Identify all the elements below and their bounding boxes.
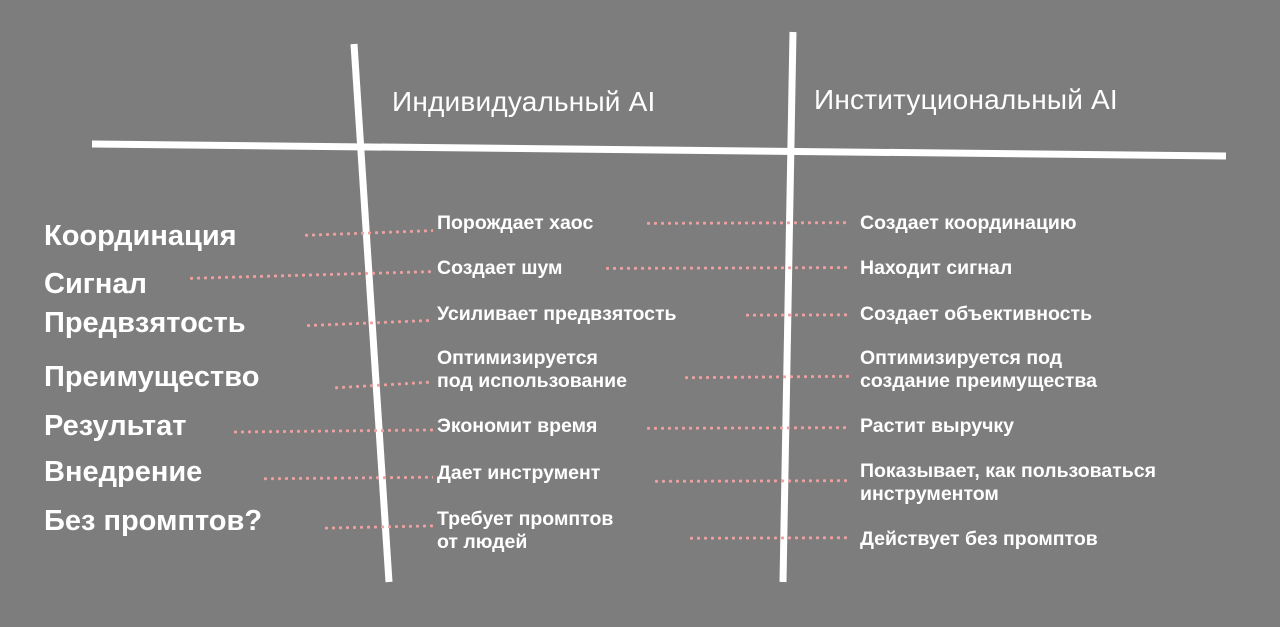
connector-dots-row-1-right — [645, 221, 850, 226]
cell-individual-result: Экономит время — [437, 415, 597, 438]
connector-dots-row-2-right — [604, 266, 850, 271]
cell-institutional-adoption: Показывает, как пользоваться инструменто… — [860, 460, 1156, 506]
vertical-divider-right — [783, 32, 793, 582]
connector-dots-row-7-left — [323, 524, 433, 530]
horizontal-header-rule — [92, 144, 1226, 156]
cell-institutional-bias: Создает объективность — [860, 303, 1092, 326]
cell-institutional-coordination: Создает координацию — [860, 212, 1077, 235]
row-label-adoption: Внедрение — [44, 458, 202, 487]
column-header-individual: Индивидуальный AI — [392, 86, 655, 118]
row-label-coordination: Координация — [44, 222, 237, 251]
connector-dots-row-5-left — [232, 428, 433, 434]
row-label-result: Результат — [44, 412, 186, 441]
cell-institutional-result: Растит выручку — [860, 415, 1014, 438]
cell-individual-adoption: Дает инструмент — [437, 462, 600, 485]
cell-individual-bias: Усиливает предвзятость — [437, 303, 677, 326]
cell-individual-no-prompts: Требует промптов от людей — [437, 508, 613, 554]
row-label-no-prompts: Без промптов? — [44, 507, 262, 536]
cell-institutional-no-prompts: Действует без промптов — [860, 528, 1098, 551]
row-label-signal: Сигнал — [44, 270, 147, 299]
cell-institutional-advantage: Оптимизируется под создание преимущества — [860, 347, 1097, 393]
vertical-divider-left — [354, 44, 389, 582]
connector-dots-row-2-left — [188, 270, 433, 281]
connector-dots-row-6-left — [262, 475, 433, 480]
connector-dots-row-4-left — [333, 380, 433, 390]
cell-individual-advantage: Оптимизируется под использование — [437, 347, 627, 393]
cell-individual-signal: Создает шум — [437, 257, 562, 280]
connector-dots-row-3-left — [305, 318, 433, 327]
connector-dots-row-1-left — [303, 229, 433, 238]
connector-dots-row-7-right — [688, 536, 850, 541]
connector-dots-row-6-right — [653, 479, 850, 484]
connector-dots-row-5-right — [645, 426, 850, 431]
row-label-bias: Предвзятость — [44, 309, 246, 338]
connector-dots-row-4-right — [683, 374, 850, 379]
comparison-matrix: Индивидуальный AI Институциональный AI К… — [0, 0, 1280, 627]
cell-institutional-signal: Находит сигнал — [860, 257, 1012, 280]
cell-individual-coordination: Порождает хаос — [437, 212, 593, 235]
column-header-institutional: Институциональный AI — [814, 84, 1118, 116]
connector-dots-row-3-right — [744, 313, 850, 317]
row-label-advantage: Преимущество — [44, 363, 259, 392]
